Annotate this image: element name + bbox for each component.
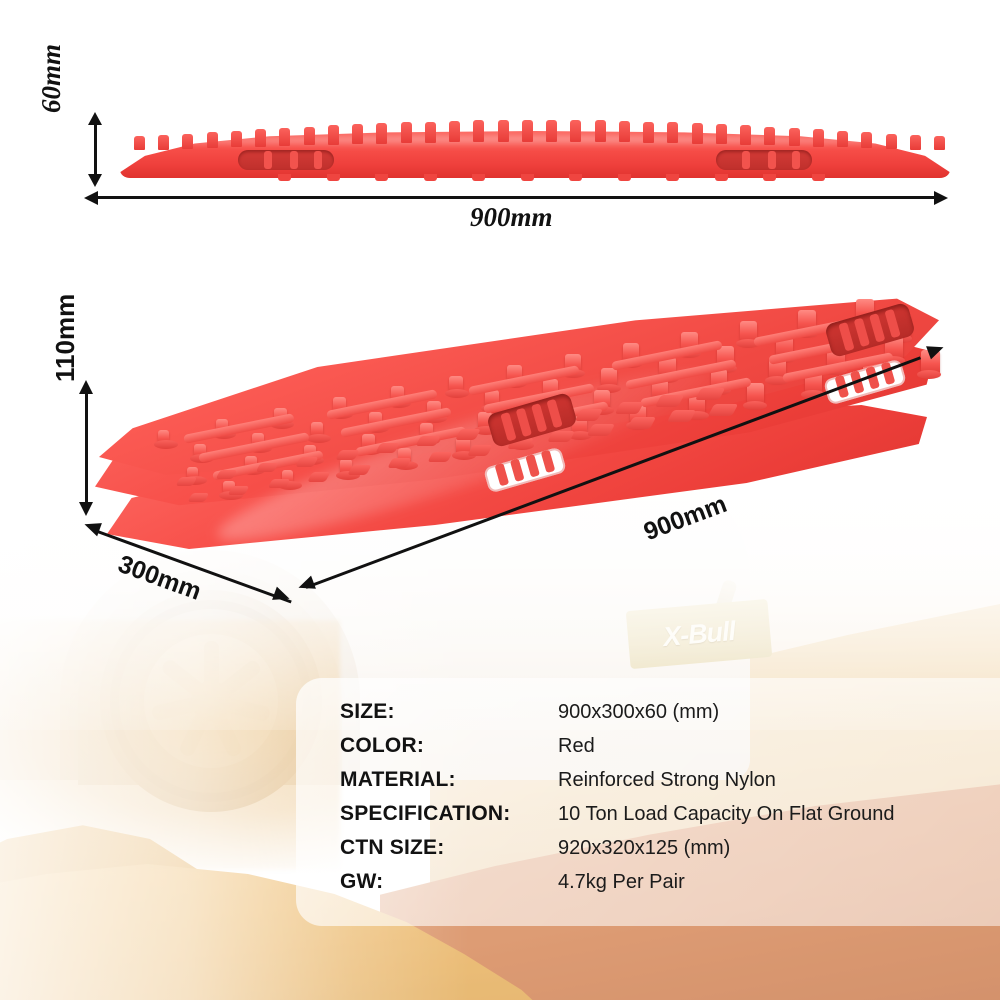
- side-profile-underside-stud: [618, 174, 631, 181]
- side-profile-stud: [255, 129, 266, 146]
- dim-900top-shaft: [96, 196, 942, 199]
- spec-row: SIZE:900x300x60 (mm): [340, 700, 1000, 734]
- spec-value: 920x320x125 (mm): [558, 837, 730, 860]
- side-profile-stud: [934, 136, 945, 150]
- side-profile-stud: [182, 134, 193, 149]
- spec-value: 900x300x60 (mm): [558, 701, 719, 724]
- tread-stud: [311, 422, 324, 439]
- spec-key: SIZE:: [340, 700, 558, 724]
- side-profile-stud: [231, 131, 242, 148]
- side-handle-cutout-left: [238, 150, 334, 170]
- side-profile-stud: [134, 136, 145, 150]
- side-profile-stud: [886, 134, 897, 149]
- side-profile-stud: [692, 123, 703, 143]
- side-profile-underside-stud: [569, 174, 582, 181]
- spec-value: Red: [558, 735, 595, 758]
- side-profile-underside-stud: [424, 174, 437, 181]
- spec-key: COLOR:: [340, 734, 558, 758]
- spec-row: GW:4.7kg Per Pair: [340, 870, 1000, 904]
- side-profile-stud: [473, 120, 484, 142]
- side-profile-stud: [449, 121, 460, 143]
- dim-60-shaft: [94, 122, 97, 176]
- spec-key: GW:: [340, 870, 558, 894]
- side-profile-stud: [667, 122, 678, 143]
- product-side-profile: [120, 112, 950, 190]
- side-profile-stud: [740, 125, 751, 144]
- side-profile-stud: [328, 125, 339, 144]
- dim-900top-head-right: [934, 191, 948, 205]
- spec-value: Reinforced Strong Nylon: [558, 769, 776, 792]
- spec-value: 10 Ton Load Capacity On Flat Ground: [558, 803, 895, 826]
- side-profile-stud: [425, 122, 436, 143]
- side-profile-stud: [570, 120, 581, 142]
- side-profile-stud: [376, 123, 387, 143]
- dim-900top-label: 900mm: [470, 202, 553, 233]
- side-profile-stud: [789, 128, 800, 146]
- side-profile-stud: [910, 135, 921, 149]
- dim-110-head-down: [79, 502, 93, 516]
- side-profile-underside-stud: [278, 174, 291, 181]
- tread-stud: [449, 376, 463, 395]
- dim-110-label: 110mm: [50, 294, 81, 382]
- side-profile-underside-stud: [521, 174, 534, 181]
- side-profile-underside-stud: [715, 174, 728, 181]
- product-isometric-pair: [85, 275, 965, 575]
- side-profile-stud: [716, 124, 727, 144]
- side-profile-stud: [304, 127, 315, 146]
- spec-row: SPECIFICATION:10 Ton Load Capacity On Fl…: [340, 802, 1000, 836]
- spec-row: CTN SIZE:920x320x125 (mm): [340, 836, 1000, 870]
- dim-60-head-up: [88, 112, 102, 125]
- side-profile-stud: [619, 121, 630, 143]
- side-profile-underside-stud: [763, 174, 776, 181]
- spec-row: COLOR:Red: [340, 734, 1000, 768]
- infographic-canvas: X-Bull: [0, 0, 1000, 1000]
- side-profile-underside-stud: [375, 174, 388, 181]
- side-profile-stud: [861, 132, 872, 148]
- spec-key: CTN SIZE:: [340, 836, 558, 860]
- side-profile-stud: [498, 120, 509, 142]
- side-profile-stud: [643, 122, 654, 143]
- spec-value: 4.7kg Per Pair: [558, 871, 685, 894]
- dim-60-head-down: [88, 174, 102, 187]
- specification-panel: SIZE:900x300x60 (mm)COLOR:RedMATERIAL:Re…: [296, 678, 1000, 926]
- side-profile-stud: [837, 131, 848, 148]
- tread-stud: [747, 383, 764, 406]
- side-profile-stud: [401, 122, 412, 143]
- side-profile-stud: [813, 129, 824, 146]
- dim-110-head-up: [79, 380, 93, 394]
- spec-row: MATERIAL:Reinforced Strong Nylon: [340, 768, 1000, 802]
- spec-key: SPECIFICATION:: [340, 802, 558, 826]
- side-profile-stud: [595, 120, 606, 142]
- side-profile-stud: [279, 128, 290, 146]
- side-profile-underside-stud: [472, 174, 485, 181]
- dim-60-label: 60mm: [36, 44, 67, 113]
- side-profile-stud: [522, 120, 533, 142]
- side-profile-underside-stud: [666, 174, 679, 181]
- dim-110-shaft: [85, 392, 88, 504]
- side-profile-stud: [352, 124, 363, 144]
- tread-stud: [601, 368, 617, 389]
- side-profile-stud: [207, 132, 218, 148]
- specification-rows: SIZE:900x300x60 (mm)COLOR:RedMATERIAL:Re…: [340, 700, 1000, 904]
- side-handle-cutout-right: [716, 150, 812, 170]
- side-profile-underside-stud: [812, 174, 825, 181]
- side-profile-underside-stud: [327, 174, 340, 181]
- tread-stud: [158, 430, 169, 445]
- spec-key: MATERIAL:: [340, 768, 558, 792]
- side-profile-stud: [546, 120, 557, 142]
- side-profile-stud: [158, 135, 169, 149]
- side-profile-stud: [764, 127, 775, 146]
- dim-900top-head-left: [84, 191, 98, 205]
